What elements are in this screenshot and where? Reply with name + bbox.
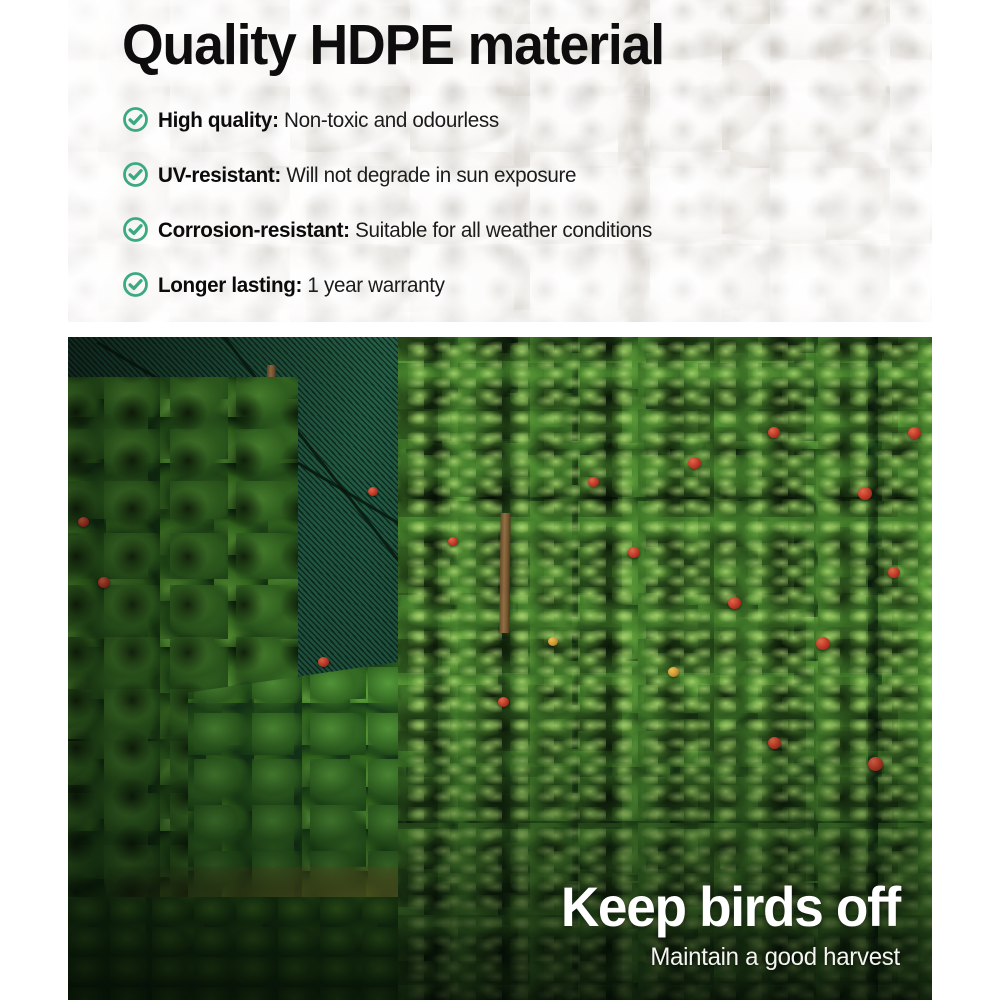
feature-description: 1 year warranty bbox=[307, 273, 444, 297]
feature-label: Corrosion-resistant: bbox=[158, 218, 350, 242]
feature-list: High quality: Non-toxic and odourless UV… bbox=[122, 92, 902, 312]
feature-text: High quality: Non-toxic and odourless bbox=[158, 107, 499, 133]
apple bbox=[868, 757, 883, 771]
page-title: Quality HDPE material bbox=[122, 14, 664, 76]
list-item: UV-resistant: Will not degrade in sun ex… bbox=[122, 147, 902, 202]
apple bbox=[816, 637, 830, 650]
apple bbox=[768, 737, 781, 749]
apple bbox=[78, 517, 89, 527]
caption-subtitle: Maintain a good harvest bbox=[557, 942, 900, 972]
feature-label: Longer lasting: bbox=[158, 273, 302, 297]
feature-label: High quality: bbox=[158, 108, 279, 132]
orchard-photo-panel: Keep birds off Maintain a good harvest bbox=[68, 337, 932, 1000]
feature-label: UV-resistant: bbox=[158, 163, 281, 187]
list-item: High quality: Non-toxic and odourless bbox=[122, 92, 902, 147]
apple bbox=[888, 567, 900, 578]
apple bbox=[548, 637, 558, 646]
feature-description: Suitable for all weather conditions bbox=[355, 218, 652, 242]
caption-title: Keep birds off bbox=[561, 878, 900, 936]
apple bbox=[98, 577, 110, 588]
hdpe-material-panel: Quality HDPE material High quality: Non-… bbox=[68, 0, 932, 322]
feature-text: UV-resistant: Will not degrade in sun ex… bbox=[158, 162, 576, 188]
apple bbox=[688, 457, 701, 469]
check-circle-icon bbox=[122, 271, 149, 298]
apple bbox=[768, 427, 780, 438]
photo-caption: Keep birds off Maintain a good harvest bbox=[543, 878, 900, 972]
check-circle-icon bbox=[122, 106, 149, 133]
top-panel-content: Quality HDPE material High quality: Non-… bbox=[122, 0, 912, 322]
list-item: Corrosion-resistant: Suitable for all we… bbox=[122, 202, 902, 257]
check-circle-icon bbox=[122, 216, 149, 243]
product-infographic: Quality HDPE material High quality: Non-… bbox=[0, 0, 1000, 1000]
list-item: Longer lasting: 1 year warranty bbox=[122, 257, 902, 312]
apple bbox=[668, 667, 679, 677]
apple bbox=[498, 697, 509, 707]
apple bbox=[588, 477, 599, 487]
apple bbox=[318, 657, 329, 667]
feature-description: Non-toxic and odourless bbox=[284, 108, 499, 132]
apple bbox=[628, 547, 640, 558]
feature-text: Longer lasting: 1 year warranty bbox=[158, 272, 445, 298]
apple bbox=[908, 427, 921, 439]
apple bbox=[858, 487, 872, 500]
wooden-post bbox=[499, 513, 510, 633]
feature-description: Will not degrade in sun exposure bbox=[286, 163, 576, 187]
apple bbox=[728, 597, 741, 609]
apple bbox=[448, 537, 458, 546]
check-circle-icon bbox=[122, 161, 149, 188]
apple bbox=[368, 487, 378, 496]
feature-text: Corrosion-resistant: Suitable for all we… bbox=[158, 217, 652, 243]
